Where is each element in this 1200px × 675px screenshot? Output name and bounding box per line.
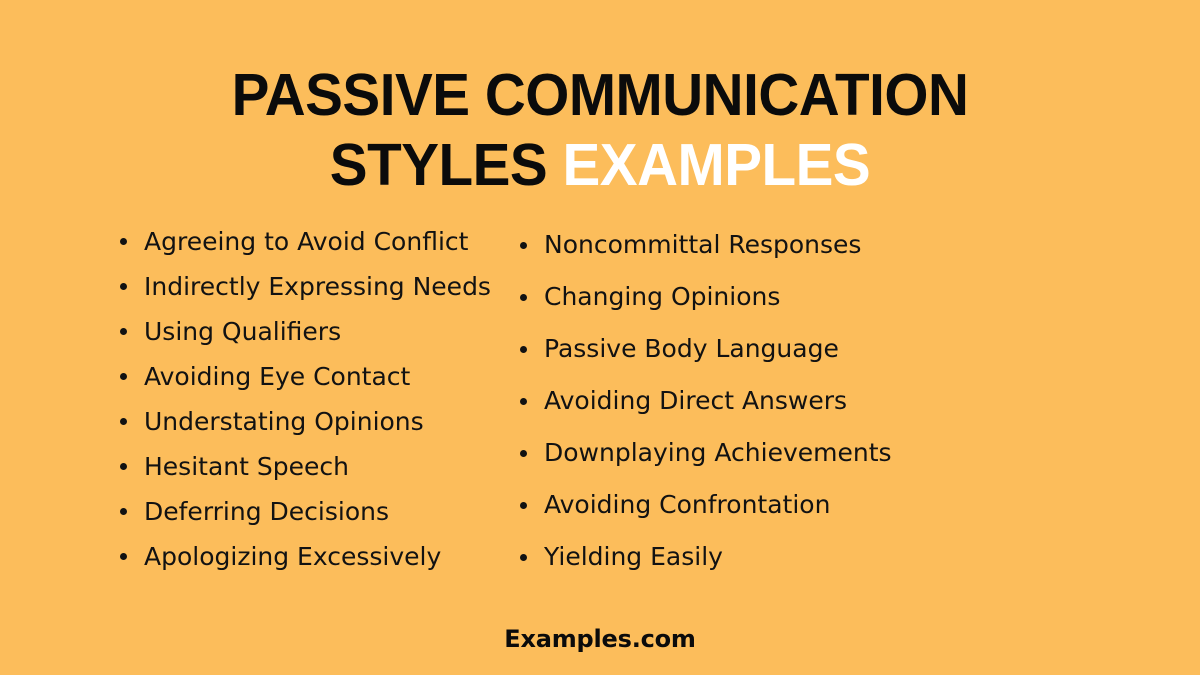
list-item-label: Deferring Decisions (144, 497, 389, 526)
list-item: Passive Body Language (518, 323, 1060, 375)
list-item: Noncommittal Responses (518, 219, 1060, 271)
title-line-1: PASSIVE COMMUNICATION (24, 62, 1176, 128)
list-item: Avoiding Direct Answers (518, 375, 1060, 427)
bullet-icon (520, 554, 527, 561)
title-line-2-primary: STYLES (330, 132, 563, 198)
list-item: Downplaying Achievements (518, 427, 1060, 479)
bullet-icon (520, 450, 527, 457)
list-item: Hesitant Speech (118, 444, 500, 489)
list-item-label: Understating Opinions (144, 407, 424, 436)
title-line-2: STYLES EXAMPLES (24, 132, 1176, 198)
list-item-label: Yielding Easily (544, 542, 723, 571)
list-item-label: Avoiding Eye Contact (144, 362, 410, 391)
bullet-icon (120, 553, 127, 560)
list-item: Yielding Easily (518, 531, 1060, 583)
list-item: Changing Opinions (518, 271, 1060, 323)
footer: Examples.com (0, 625, 1200, 653)
examples-columns: Agreeing to Avoid Conflict Indirectly Ex… (0, 219, 1200, 589)
examples-list-right: Noncommittal Responses Changing Opinions… (518, 219, 1060, 583)
list-item-label: Changing Opinions (544, 282, 780, 311)
bullet-icon (120, 508, 127, 515)
list-item-label: Using Qualifiers (144, 317, 341, 346)
list-item-label: Avoiding Direct Answers (544, 386, 847, 415)
bullet-icon (520, 398, 527, 405)
list-item: Using Qualifiers (118, 309, 500, 354)
list-item-label: Hesitant Speech (144, 452, 349, 481)
list-item-label: Indirectly Expressing Needs (144, 272, 491, 301)
bullet-icon (120, 463, 127, 470)
page-title: PASSIVE COMMUNICATION STYLES EXAMPLES (0, 62, 1200, 198)
list-item-label: Apologizing Excessively (144, 542, 441, 571)
poster-canvas: PASSIVE COMMUNICATION STYLES EXAMPLES Ag… (0, 0, 1200, 675)
bullet-icon (520, 346, 527, 353)
list-item: Indirectly Expressing Needs (118, 264, 500, 309)
list-item: Avoiding Eye Contact (118, 354, 500, 399)
list-item: Avoiding Confrontation (518, 479, 1060, 531)
bullet-icon (120, 418, 127, 425)
list-item: Apologizing Excessively (118, 534, 500, 579)
brand-label: Examples.com (504, 625, 696, 653)
bullet-icon (120, 373, 127, 380)
bullet-icon (520, 502, 527, 509)
bullet-icon (120, 328, 127, 335)
examples-column-left: Agreeing to Avoid Conflict Indirectly Ex… (0, 219, 500, 579)
list-item-label: Agreeing to Avoid Conflict (144, 227, 468, 256)
list-item: Deferring Decisions (118, 489, 500, 534)
list-item: Understating Opinions (118, 399, 500, 444)
list-item-label: Avoiding Confrontation (544, 490, 830, 519)
list-item-label: Downplaying Achievements (544, 438, 892, 467)
bullet-icon (520, 242, 527, 249)
examples-list-left: Agreeing to Avoid Conflict Indirectly Ex… (118, 219, 500, 579)
list-item-label: Passive Body Language (544, 334, 839, 363)
bullet-icon (520, 294, 527, 301)
list-item: Agreeing to Avoid Conflict (118, 219, 500, 264)
examples-column-right: Noncommittal Responses Changing Opinions… (500, 219, 1060, 583)
list-item-label: Noncommittal Responses (544, 230, 861, 259)
bullet-icon (120, 283, 127, 290)
title-line-2-accent: EXAMPLES (562, 132, 870, 198)
bullet-icon (120, 238, 127, 245)
